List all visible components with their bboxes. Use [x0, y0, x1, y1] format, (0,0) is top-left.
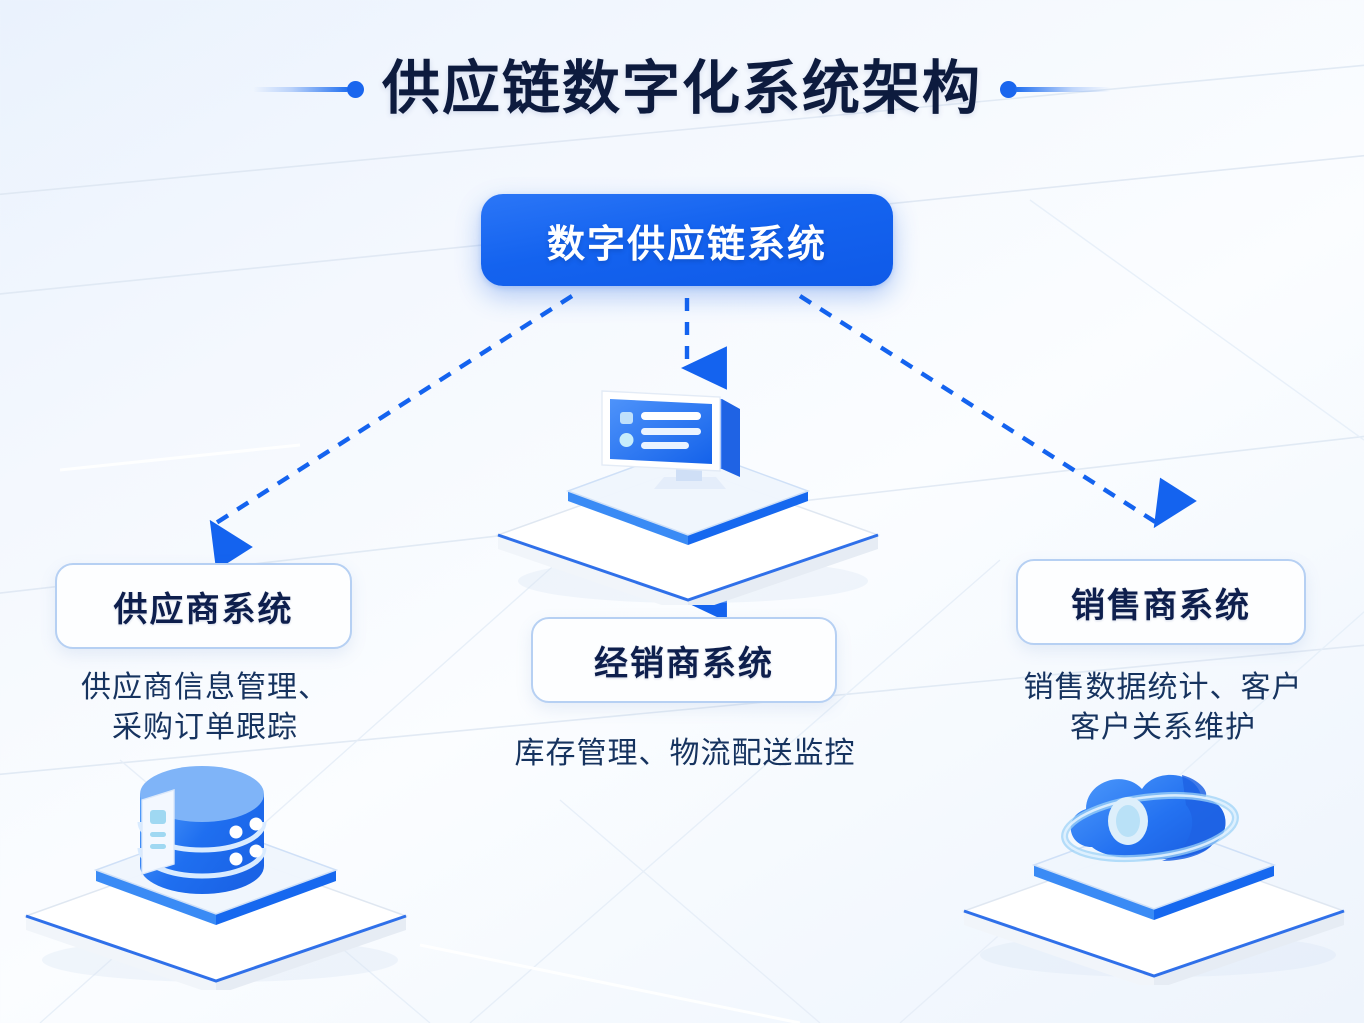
- root-node-label: 数字供应链系统: [547, 213, 827, 268]
- node-box-dealer[interactable]: 经销商系统: [531, 617, 837, 703]
- desktop-monitor-3d-icon: [478, 385, 898, 605]
- node-label-supplier: 供应商系统: [114, 582, 294, 631]
- database-3d-icon: [8, 760, 428, 990]
- title-ornament-right: [1000, 81, 1111, 98]
- node-box-supplier[interactable]: 供应商系统: [55, 563, 352, 649]
- arrow-root-to-retailer: [800, 296, 1157, 523]
- arrow-root-to-supplier: [213, 296, 572, 525]
- ornament-line: [253, 87, 349, 92]
- root-node-digital-supply-chain[interactable]: 数字供应链系统: [481, 194, 893, 286]
- node-description-dealer: 库存管理、物流配送监控: [465, 734, 905, 774]
- node-description-retailer: 销售数据统计、客户 客户关系维护: [988, 668, 1338, 747]
- connector-layer: [0, 0, 1364, 1023]
- title-ornament-left: [253, 81, 364, 98]
- page-header: 供应链数字化系统架构: [0, 44, 1364, 134]
- ornament-dot: [347, 81, 364, 98]
- node-box-retailer[interactable]: 销售商系统: [1016, 559, 1306, 645]
- node-description-supplier: 供应商信息管理、 采购订单跟踪: [40, 668, 370, 747]
- page-title: 供应链数字化系统架构: [382, 60, 982, 118]
- cloud-3d-icon: [946, 755, 1364, 985]
- node-label-dealer: 经销商系统: [594, 636, 774, 685]
- node-label-retailer: 销售商系统: [1071, 578, 1251, 627]
- background-grid: [0, 0, 1364, 1023]
- ornament-line: [1015, 87, 1111, 92]
